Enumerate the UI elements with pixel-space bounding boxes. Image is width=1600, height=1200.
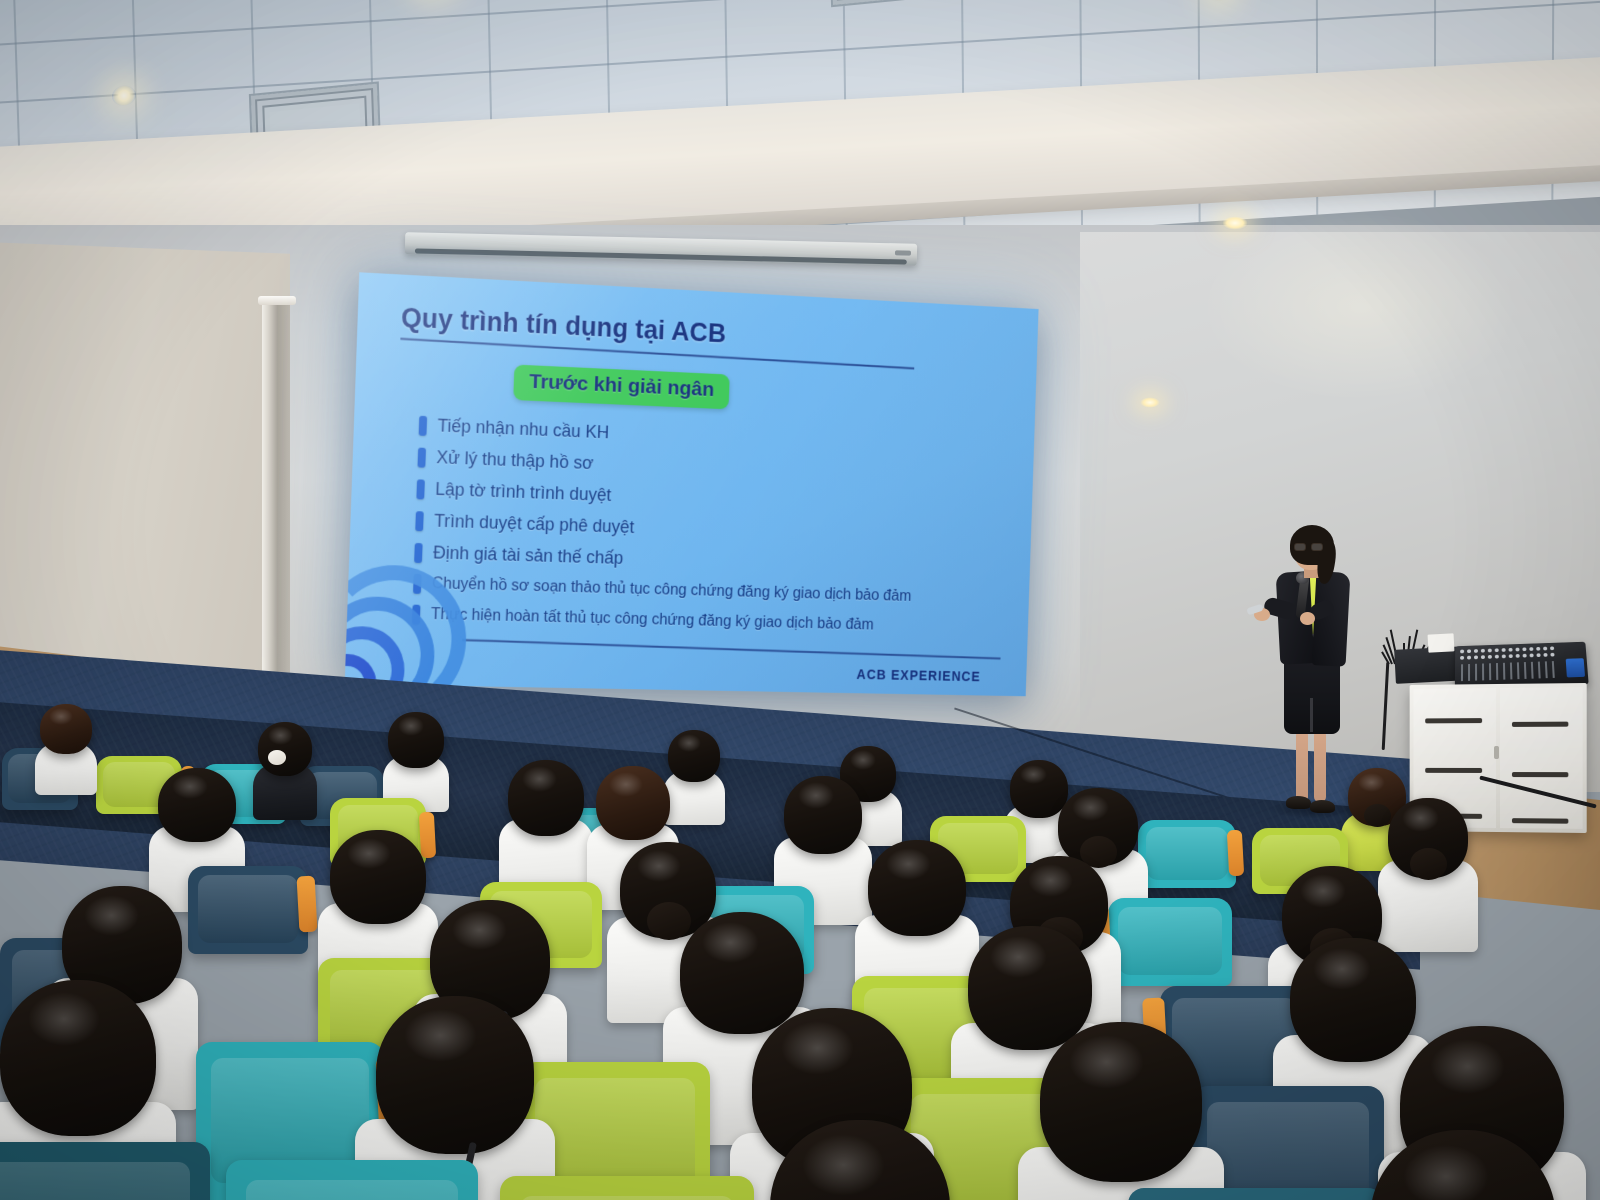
audience-member <box>770 1120 1000 1200</box>
acb-arc-logo-icon <box>345 563 469 696</box>
presenter-hand-right <box>1300 612 1315 625</box>
audience-seating <box>0 690 1600 1200</box>
audience-member <box>1040 1022 1246 1200</box>
auditorium-seat-front-2[interactable] <box>226 1160 478 1200</box>
audio-mixing-console <box>1455 642 1589 689</box>
wall-downlight-lower <box>1140 397 1160 408</box>
slide-bullet-list: Tiếp nhận nhu cầu KHXử lý thu thập hồ sơ… <box>390 414 1004 638</box>
bullet-label: Trình duyệt cấp phê duyệt <box>434 511 635 538</box>
audience-member-head <box>868 840 966 936</box>
audience-member <box>258 722 322 832</box>
wall-column-trim <box>262 300 290 673</box>
wall-light-glow <box>1200 212 1520 402</box>
audience-member-head <box>1370 1130 1556 1200</box>
mixer-blue-panel <box>1566 658 1585 677</box>
audience-member <box>1370 1130 1600 1200</box>
audience-member-head <box>376 996 534 1154</box>
roller-end-cap <box>895 250 911 255</box>
audience-member-head <box>1290 938 1416 1062</box>
left-wall-panel <box>0 242 290 714</box>
auditorium-scene: Quy trình tín dụng tại ACB Trước khi giả… <box>0 0 1600 1200</box>
bullet-label: Chuyển hồ sơ soạn thảo thủ tục công chứn… <box>432 575 912 605</box>
bullet-marker-icon <box>417 447 426 467</box>
bullet-label: Xử lý thu thập hồ sơ <box>436 447 594 474</box>
seat-armrest <box>297 876 318 933</box>
auditorium-seat-front-1[interactable] <box>0 1142 210 1200</box>
audience-member-head <box>784 776 862 854</box>
bullet-label: Thực hiện hoàn tất thủ tục công chứng đă… <box>431 606 874 634</box>
audience-member-head <box>330 830 426 924</box>
audience-member-head <box>388 712 444 768</box>
audience-member-head <box>770 1120 950 1200</box>
bullet-label: Tiếp nhận nhu cầu KH <box>437 416 609 444</box>
auditorium-seat-front-4[interactable] <box>1128 1188 1384 1200</box>
audience-member-head <box>596 766 670 840</box>
wall-column-cap <box>258 296 296 305</box>
audience-member-head <box>1040 1022 1202 1182</box>
slide-title: Quy trình tín dụng tại ACB <box>401 302 1008 363</box>
audience-member-head <box>508 760 584 836</box>
bullet-label: Định giá tài sản thế chấp <box>433 543 624 569</box>
slide-badge-container: Trước khi giải ngân <box>398 359 1006 421</box>
wall-downlight <box>1222 216 1248 230</box>
slide-bullet-item: Thực hiện hoàn tất thủ tục công chứng đă… <box>412 605 998 639</box>
bullet-marker-icon <box>415 511 424 531</box>
bullet-marker-icon <box>416 479 425 499</box>
audience-member-head <box>158 768 236 842</box>
slide-bullet-item: Định giá tài sản thế chấp <box>414 542 1000 580</box>
audience-member-head <box>40 704 92 754</box>
glasses-icon <box>1294 543 1324 551</box>
projection-screen: Quy trình tín dụng tại ACB Trước khi giả… <box>345 272 1039 696</box>
hair-bun <box>1410 848 1447 880</box>
phase-badge: Trước khi giải ngân <box>513 365 729 410</box>
auditorium-seat-front-3[interactable] <box>500 1176 754 1200</box>
equipment-label-card <box>1428 633 1455 652</box>
bullet-label: Lập tờ trình trình duyệt <box>435 479 612 506</box>
bullet-marker-icon <box>414 542 423 562</box>
audience-member-head <box>0 980 156 1136</box>
hair-bun <box>1364 804 1391 827</box>
seat-armrest <box>1227 830 1244 877</box>
slide-footer-brand: ACB EXPERIENCE <box>856 666 980 684</box>
slide: Quy trình tín dụng tại ACB Trước khi giả… <box>345 272 1039 696</box>
slide-bullet-item: Chuyển hồ sơ soạn thảo thủ tục công chứn… <box>413 574 999 609</box>
audience-member-head <box>258 722 312 776</box>
bullet-marker-icon <box>419 415 428 435</box>
audience-member <box>40 704 102 806</box>
slide-footer-rule <box>462 639 1000 660</box>
